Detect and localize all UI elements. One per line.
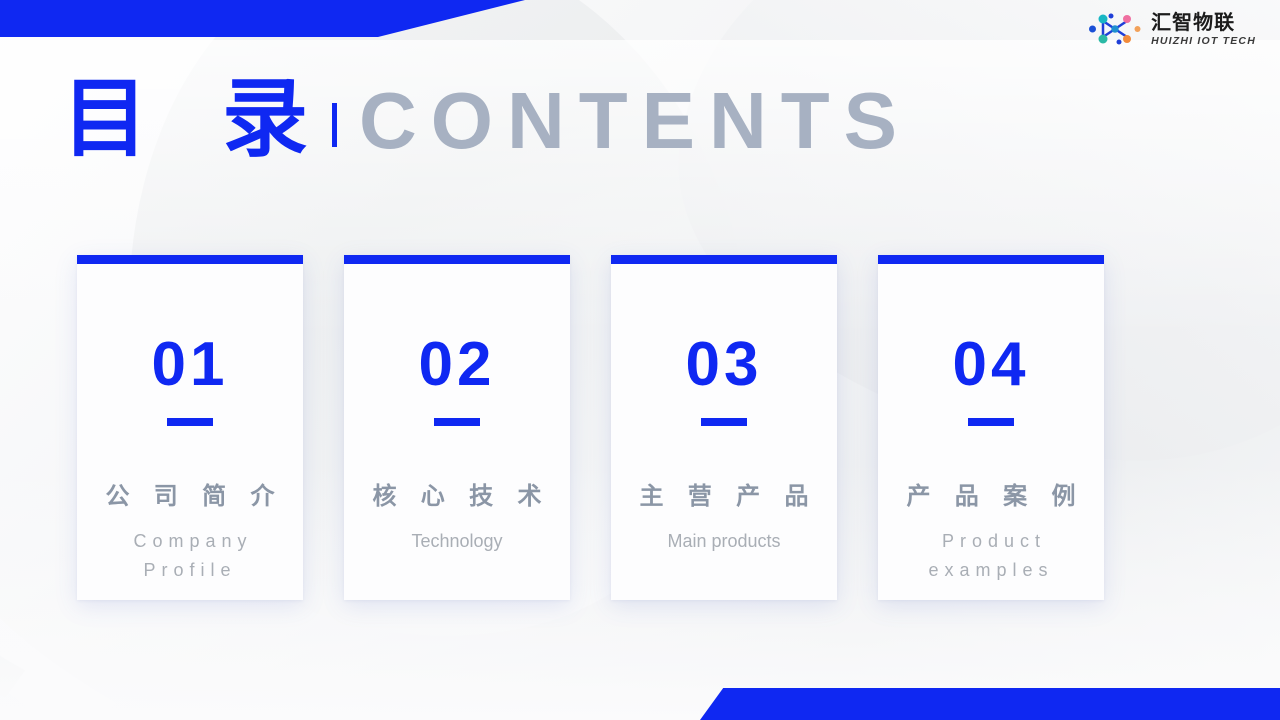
card-underline-rule [434, 418, 480, 426]
card-title-cn: 公 司 简 介 [97, 476, 282, 511]
card-number: 02 [419, 334, 496, 396]
molecule-network-icon [1088, 12, 1142, 46]
accent-bar-top-left [0, 0, 525, 37]
card-title-en: Product examples [918, 527, 1063, 585]
contents-card-02[interactable]: 02 核 心 技 术 Technology [344, 255, 570, 600]
card-top-accent [344, 255, 570, 264]
accent-bar-bottom-right [700, 688, 1280, 720]
card-underline-rule [701, 418, 747, 426]
logo-name-en: HUIZHI IOT TECH [1151, 36, 1256, 47]
logo-name-cn: 汇智物联 [1151, 12, 1256, 32]
card-title-cn: 主 营 产 品 [631, 476, 816, 511]
card-title-cn: 产 品 案 例 [898, 476, 1083, 511]
contents-card-list: 01 公 司 简 介 Company Profile 02 核 心 技 术 Te… [77, 255, 1170, 600]
contents-card-01[interactable]: 01 公 司 简 介 Company Profile [77, 255, 303, 600]
card-underline-rule [968, 418, 1014, 426]
card-title-en: Technology [401, 527, 512, 556]
logo-text-block: 汇智物联 HUIZHI IOT TECH [1151, 12, 1256, 47]
contents-card-03[interactable]: 03 主 营 产 品 Main products [611, 255, 837, 600]
card-top-accent [611, 255, 837, 264]
card-number: 04 [953, 334, 1030, 396]
slide-canvas: 汇智物联 HUIZHI IOT TECH 目 录 CONTENTS 01 公 司… [0, 0, 1280, 720]
card-number: 03 [686, 334, 763, 396]
card-title-en: Company Profile [117, 527, 262, 585]
card-number: 01 [152, 334, 229, 396]
card-underline-rule [167, 418, 213, 426]
page-title-cn: 目 录 [62, 76, 330, 162]
card-top-accent [878, 255, 1104, 264]
company-logo: 汇智物联 HUIZHI IOT TECH [1088, 12, 1256, 47]
title-separator-icon [332, 103, 337, 147]
page-title: 目 录 CONTENTS [62, 76, 911, 162]
page-title-en: CONTENTS [359, 81, 911, 161]
card-title-cn: 核 心 技 术 [364, 476, 549, 511]
card-top-accent [77, 255, 303, 264]
contents-card-04[interactable]: 04 产 品 案 例 Product examples [878, 255, 1104, 600]
card-title-en: Main products [657, 527, 790, 556]
